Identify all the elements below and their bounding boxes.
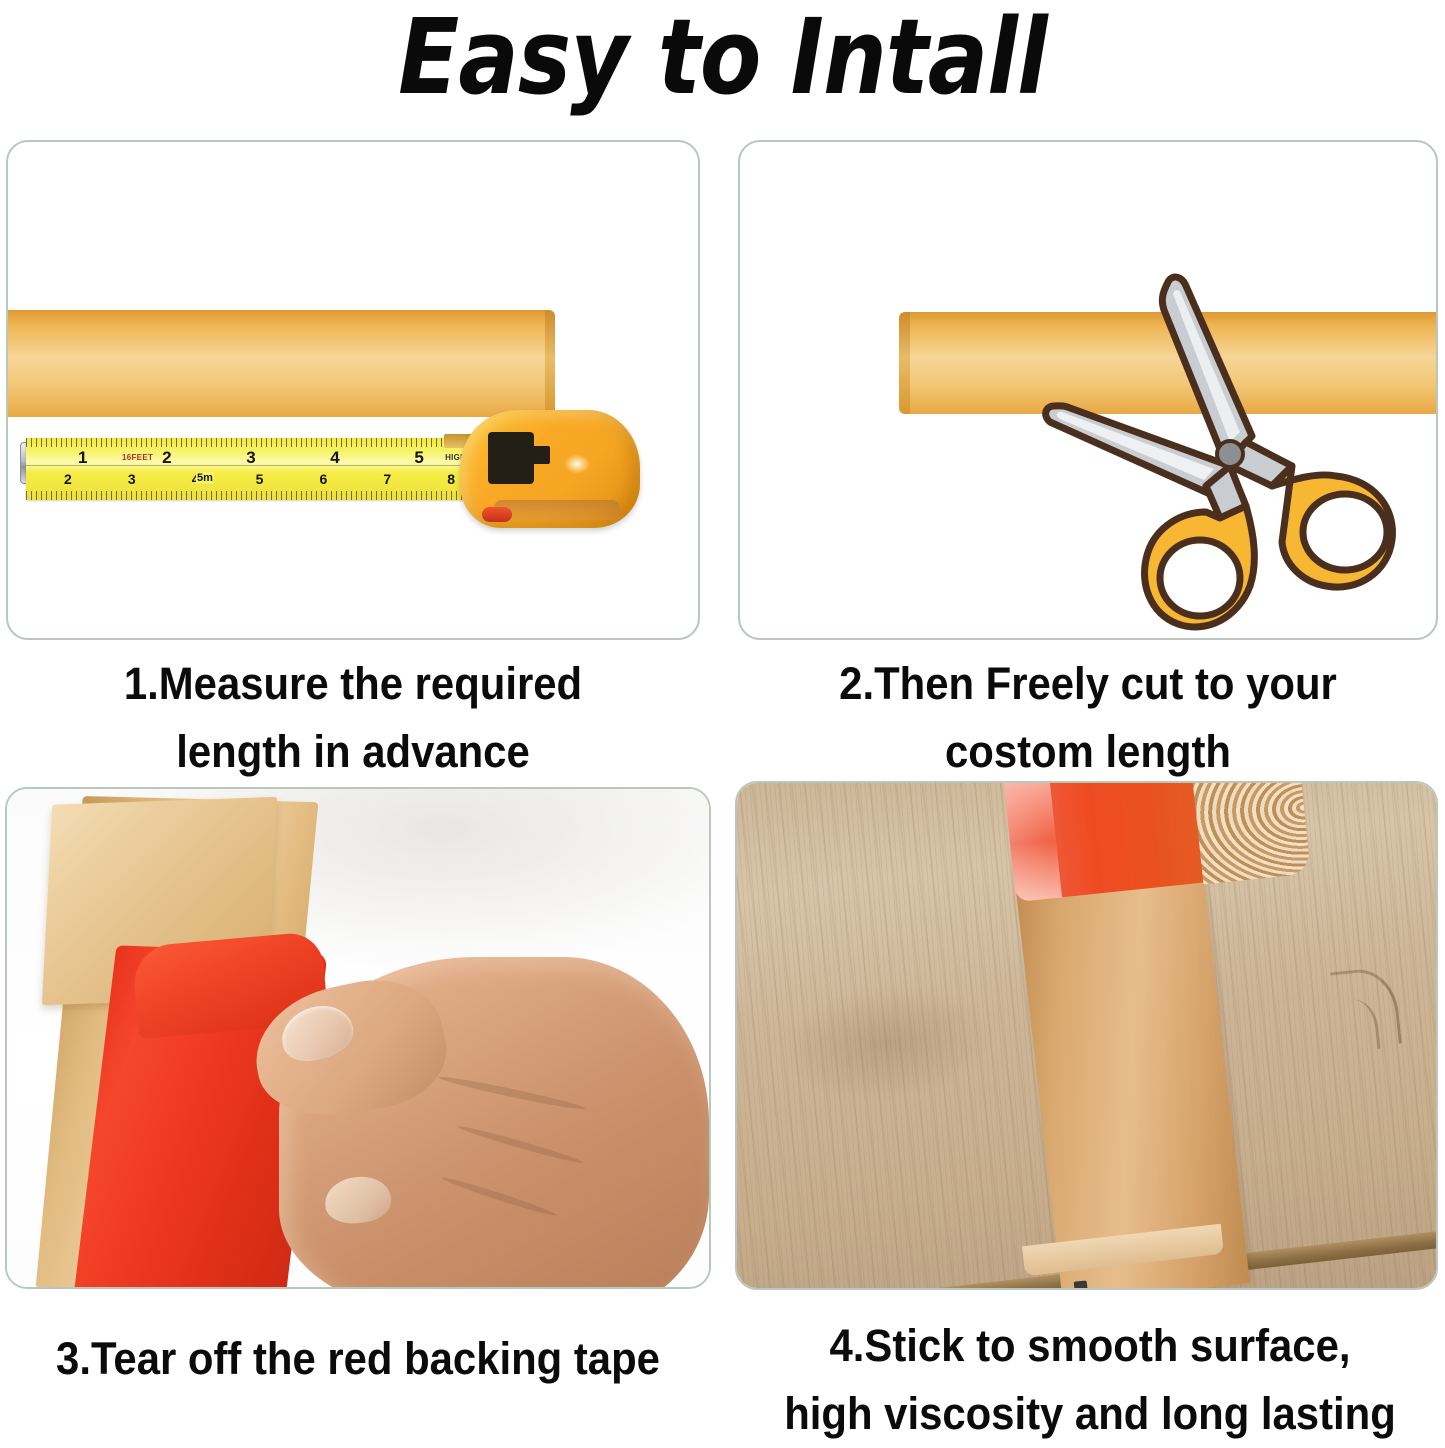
metric-mark: 7 (383, 471, 391, 487)
panel-cut (738, 140, 1438, 640)
tape-roll-red-backing (1003, 783, 1215, 902)
metric-mark: 8 (447, 471, 455, 487)
tape-strip (8, 310, 554, 417)
page-title: Easy to Intall (101, 0, 1344, 116)
metric-mark: 5 (256, 471, 264, 487)
caption-step-1: 1.Measure the required length in advance (30, 650, 675, 786)
panel-peel (5, 787, 711, 1289)
blade-ticks-top (26, 438, 514, 447)
caption-step-3: 3.Tear off the red backing tape (25, 1325, 691, 1393)
imperial-mark: 5 (414, 448, 423, 468)
imperial-mark: 2 (162, 448, 171, 468)
tape-blade: 1 2 3 4 5 6 2 3 4 5 6 7 8 9 16FEET HIGH … (26, 438, 514, 500)
peel-photo (7, 789, 709, 1287)
panel-stick (735, 781, 1438, 1290)
caption-step-2: 2.Then Freely cut to your costom length (763, 650, 1414, 786)
caption-step-4: 4.Stick to smooth surface, high viscosit… (760, 1312, 1420, 1448)
wood-grain-patch (771, 972, 1002, 1114)
tape-release-button-icon (482, 507, 512, 522)
imperial-mark: 4 (330, 448, 339, 468)
blade-metric-numbers: 2 3 4 5 6 7 8 9 (64, 471, 519, 487)
metric-mark: 2 (64, 471, 72, 487)
imperial-mark: 3 (246, 448, 255, 468)
metric-mark: 3 (128, 471, 136, 487)
blade-ticks-bottom (26, 491, 514, 500)
imperial-mark: 1 (78, 448, 87, 468)
metric-mark: 6 (320, 471, 328, 487)
blade-brand-text: 16FEET (122, 453, 153, 462)
tape-roll-spiral-layers (1190, 783, 1311, 884)
body-highlight (564, 454, 590, 474)
stick-photo (737, 783, 1436, 1288)
panel-measure: 1 2 3 4 5 6 2 3 4 5 6 7 8 9 16FEET HIGH … (6, 140, 700, 640)
scissors-icon (1040, 250, 1438, 640)
tape-measure-body (460, 410, 640, 528)
body-belt-clip (494, 500, 620, 520)
tape-lock-button-icon (488, 432, 534, 484)
blade-metric-label: 5m (196, 472, 214, 484)
